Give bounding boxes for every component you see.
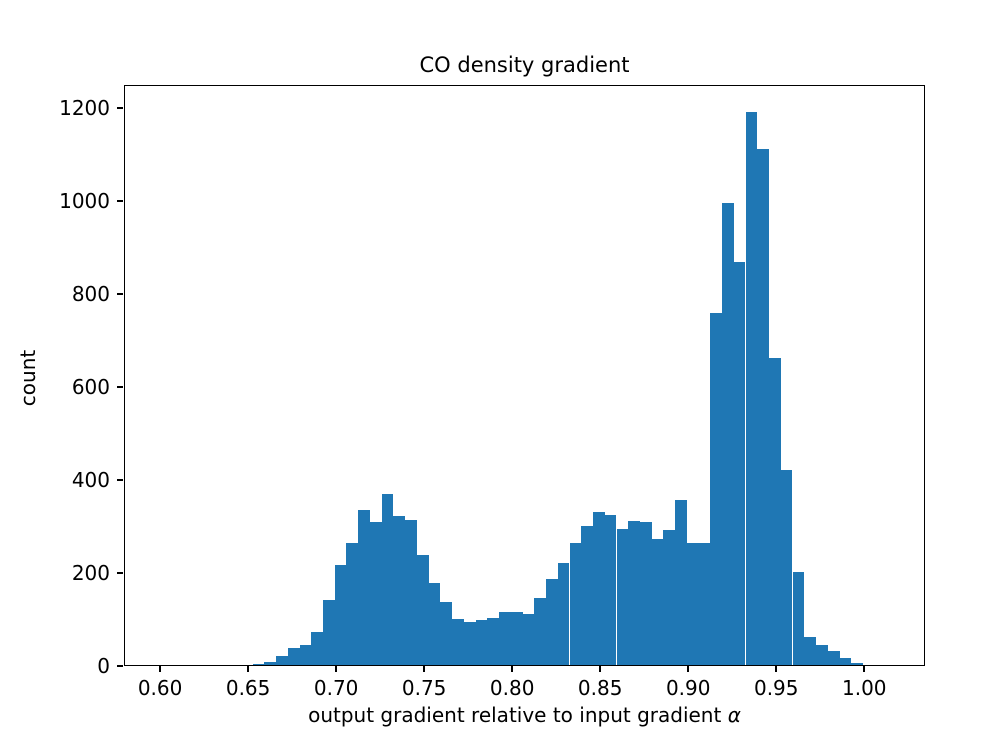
y-axis-tick-label: 400 — [20, 470, 110, 490]
histogram-bar — [264, 662, 276, 665]
histogram-bar — [804, 637, 816, 665]
page-title: CO density gradient — [124, 52, 925, 78]
histogram-bar — [499, 612, 511, 665]
histogram-bar — [288, 648, 300, 665]
histogram-bar — [851, 663, 863, 665]
histogram-bar — [346, 543, 358, 665]
plot-area — [124, 85, 925, 666]
histogram-bar — [746, 112, 758, 665]
histogram-bar — [534, 598, 546, 665]
histogram-bar — [781, 470, 793, 665]
histogram-bar — [335, 565, 347, 665]
histogram-bar — [628, 521, 640, 665]
y-axis-tick — [117, 386, 123, 388]
histogram-bar — [511, 612, 523, 665]
histogram-bar — [769, 358, 781, 665]
histogram-bar — [429, 583, 441, 665]
histogram-bar — [617, 529, 629, 665]
y-axis-tick — [117, 200, 123, 202]
histogram-bar — [311, 632, 323, 665]
y-axis-tick-label: 200 — [20, 563, 110, 583]
histogram-bar — [546, 579, 558, 665]
histogram-bar — [839, 658, 851, 665]
histogram-bar — [276, 656, 288, 665]
histogram-bar — [699, 543, 711, 665]
y-axis-tick — [117, 293, 123, 295]
y-axis-tick-label: 1200 — [20, 98, 110, 118]
histogram-bars — [125, 86, 924, 665]
x-axis-tick — [335, 666, 337, 672]
y-axis-label: count — [16, 318, 40, 438]
histogram-bar — [382, 494, 394, 665]
histogram-bar — [663, 530, 675, 665]
x-axis-tick — [687, 666, 689, 672]
histogram-bar — [323, 600, 335, 665]
x-axis-tick-label: 0.75 — [374, 676, 474, 700]
histogram-bar — [452, 619, 464, 665]
histogram-figure: CO density gradient 02004006008001000120… — [0, 0, 996, 747]
histogram-bar — [358, 510, 370, 665]
histogram-bar — [675, 500, 687, 665]
x-axis-tick-label: 0.95 — [726, 676, 826, 700]
histogram-bar — [393, 516, 405, 665]
histogram-bar — [640, 522, 652, 665]
x-axis-tick-label: 0.70 — [286, 676, 386, 700]
histogram-bar — [793, 572, 805, 665]
y-axis-tick-label: 1000 — [20, 191, 110, 211]
histogram-bar — [405, 520, 417, 665]
x-axis-tick — [599, 666, 601, 672]
histogram-bar — [253, 664, 265, 665]
x-axis-tick — [159, 666, 161, 672]
x-axis-label: output gradient relative to input gradie… — [124, 703, 925, 727]
alpha-symbol: α — [728, 703, 741, 727]
x-axis-tick — [423, 666, 425, 672]
histogram-bar — [558, 563, 570, 665]
histogram-bar — [464, 622, 476, 665]
y-axis-tick — [117, 572, 123, 574]
x-axis-tick-label: 1.00 — [814, 676, 914, 700]
x-axis-tick — [775, 666, 777, 672]
x-axis-tick-label: 0.80 — [462, 676, 562, 700]
histogram-bar — [828, 651, 840, 665]
histogram-bar — [710, 313, 722, 665]
histogram-bar — [300, 645, 312, 665]
histogram-bar — [757, 149, 769, 665]
y-axis-tick-label: 0 — [20, 656, 110, 676]
x-axis-tick — [247, 666, 249, 672]
histogram-bar — [440, 602, 452, 665]
histogram-bar — [370, 522, 382, 665]
y-axis-tick — [117, 107, 123, 109]
x-axis-tick-label: 0.85 — [550, 676, 650, 700]
x-axis-label-text: output gradient relative to input gradie… — [308, 703, 728, 727]
y-axis-tick-label: 800 — [20, 284, 110, 304]
x-axis-tick-label: 0.65 — [198, 676, 298, 700]
histogram-bar — [734, 262, 746, 665]
histogram-bar — [605, 515, 617, 665]
histogram-bar — [722, 203, 734, 665]
histogram-bar — [476, 620, 488, 665]
histogram-bar — [581, 526, 593, 665]
histogram-bar — [417, 555, 429, 665]
y-axis-tick — [117, 479, 123, 481]
x-axis-tick-label: 0.60 — [110, 676, 210, 700]
x-axis-tick — [511, 666, 513, 672]
histogram-bar — [523, 614, 535, 665]
histogram-bar — [652, 539, 664, 665]
y-axis-tick — [117, 665, 123, 667]
histogram-bar — [487, 618, 499, 665]
histogram-bar — [687, 543, 699, 665]
histogram-bar — [816, 645, 828, 665]
x-axis-tick-label: 0.90 — [638, 676, 738, 700]
histogram-bar — [570, 543, 582, 665]
x-axis-tick — [863, 666, 865, 672]
histogram-bar — [593, 512, 605, 665]
